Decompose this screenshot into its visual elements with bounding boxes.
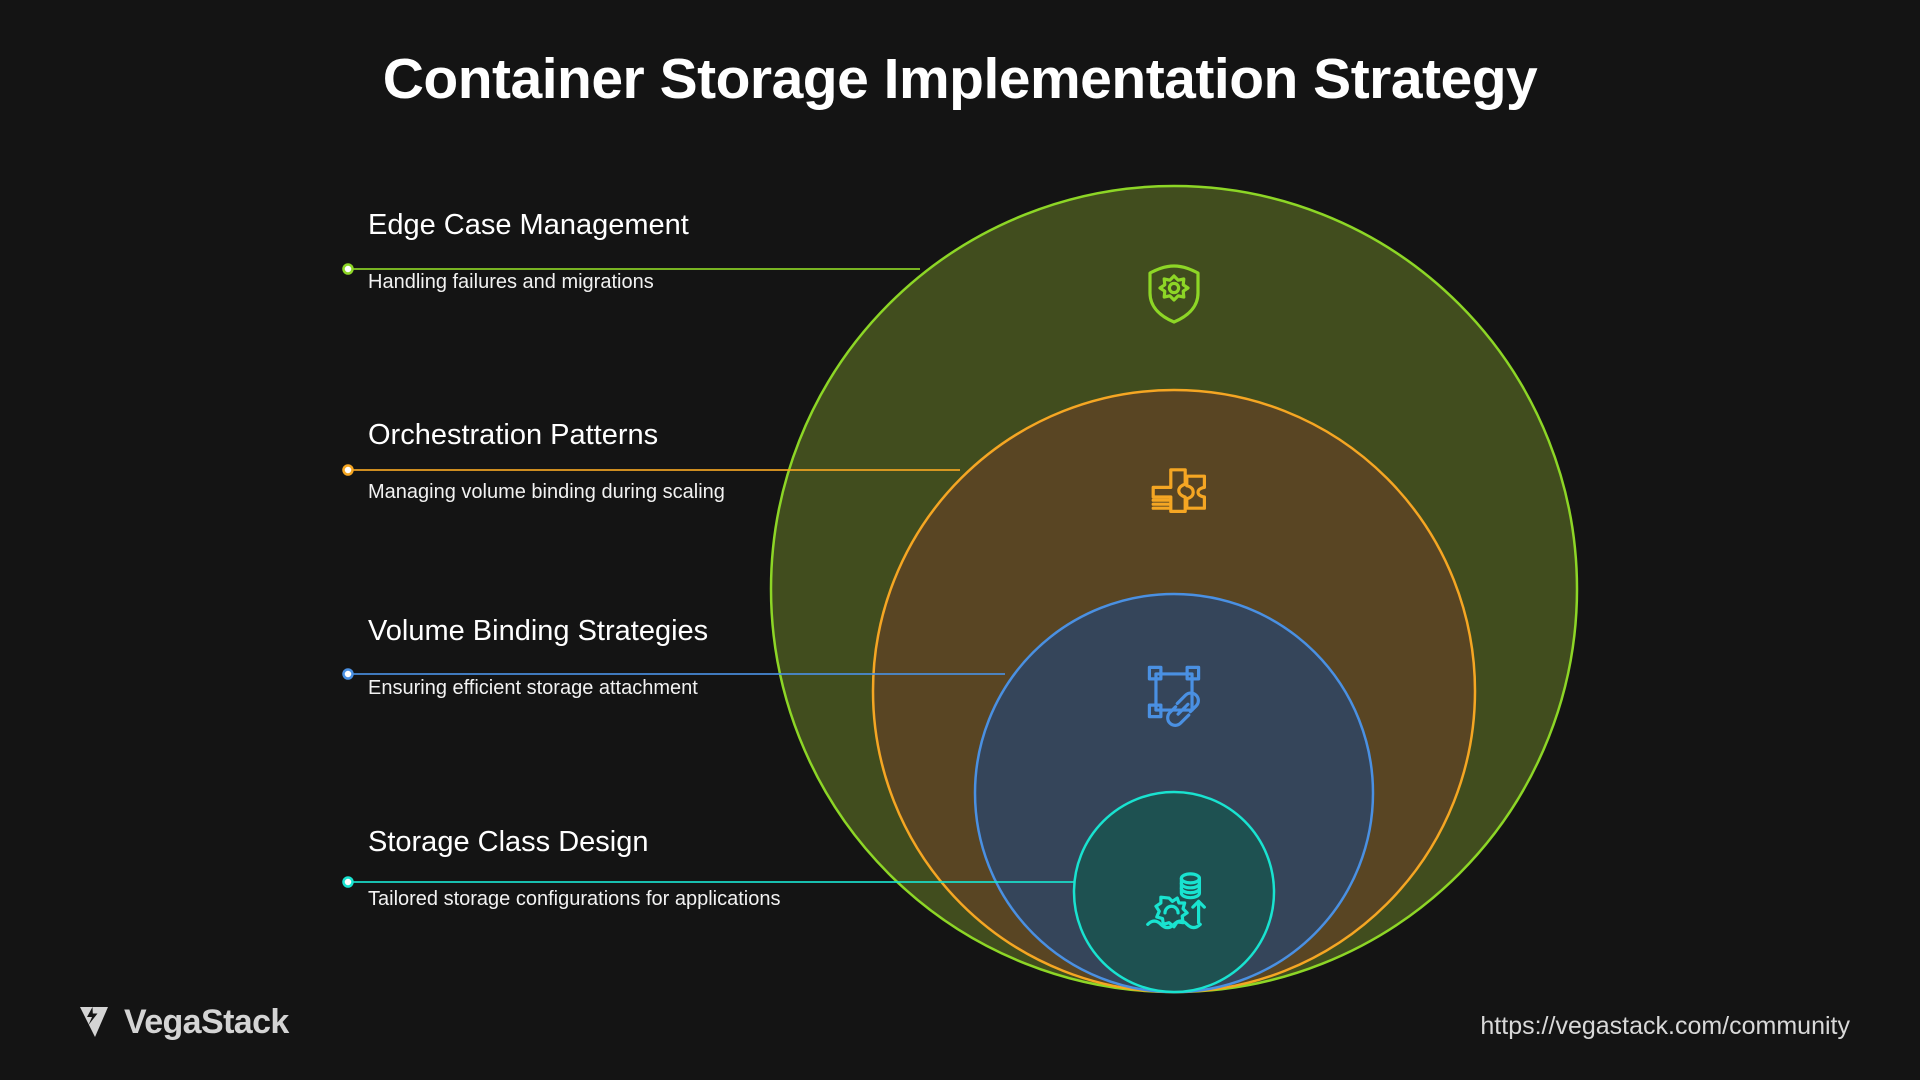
circle-volume-binding-strategies: [975, 594, 1373, 992]
diagram-canvas: Container Storage Implementation Strateg…: [0, 0, 1920, 1080]
storage-gear-upload-icon: [1148, 874, 1205, 928]
vegastack-v-bolt-icon: [78, 1004, 118, 1040]
callout-volume-binding-strategies: Volume Binding Strategies Ensuring effic…: [368, 614, 798, 702]
callout-title: Storage Class Design: [368, 825, 798, 860]
callout-orchestration-patterns: Orchestration Patterns Managing volume b…: [368, 418, 798, 506]
site-url: https://vegastack.com/community: [1480, 1012, 1850, 1041]
circle-storage-class-design: [1074, 792, 1274, 992]
icons-group: [1148, 266, 1205, 928]
callout-title: Orchestration Patterns: [368, 418, 798, 453]
nested-circles-diagram: [0, 0, 1920, 1080]
brand-name: VegaStack: [124, 1005, 289, 1039]
callout-description: Tailored storage configurations for appl…: [368, 886, 798, 914]
callout-description: Ensuring efficient storage attachment: [368, 675, 798, 703]
connector-dot-orchestration-patterns: [344, 466, 353, 475]
shield-gear-icon: [1150, 266, 1198, 322]
circles-group: [771, 186, 1577, 992]
brand-logo: VegaStack: [78, 1004, 289, 1040]
connector-dot-volume-binding-strategies: [344, 670, 353, 679]
callout-description: Handling failures and migrations: [368, 269, 798, 297]
callout-storage-class-design: Storage Class Design Tailored storage co…: [368, 825, 798, 913]
callout-edge-case-management: Edge Case Management Handling failures a…: [368, 208, 798, 296]
bounding-box-link-icon: [1149, 667, 1198, 725]
callout-title: Edge Case Management: [368, 208, 798, 243]
callout-description: Managing volume binding during scaling: [368, 479, 798, 507]
orchestration-blocks-icon: [1153, 470, 1204, 512]
connector-dot-storage-class-design: [344, 878, 353, 887]
circle-orchestration-patterns: [873, 390, 1475, 992]
connector-dot-edge-case-management: [344, 265, 353, 274]
page-title: Container Storage Implementation Strateg…: [0, 48, 1920, 111]
callout-title: Volume Binding Strategies: [368, 614, 798, 649]
connectors-group: [344, 265, 1076, 887]
circle-edge-case-management: [771, 186, 1577, 992]
